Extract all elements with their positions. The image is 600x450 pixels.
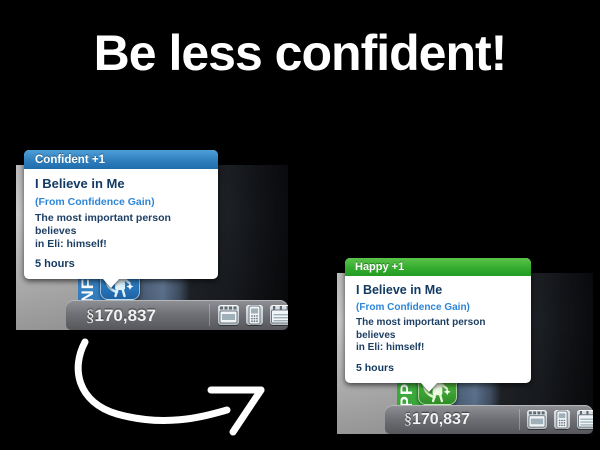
phone-icon[interactable] <box>554 410 570 429</box>
hand-drawn-curved-arrow <box>55 320 295 440</box>
tooltip-body-after: I Believe in Me (From Confidence Gain) T… <box>345 276 531 383</box>
money-display-before: §170,837 <box>86 306 156 326</box>
oven-glyph <box>527 410 547 429</box>
tooltip-header-label: Happy +1 <box>355 261 404 273</box>
tooltip-description-line-1: The most important person believes <box>356 317 520 342</box>
calendar-icon[interactable] <box>577 410 593 429</box>
phone-glyph <box>554 410 570 429</box>
calendar-icon[interactable] <box>270 305 288 325</box>
tooltip-header-before: Confident +1 <box>24 150 218 169</box>
tooltip-duration: 5 hours <box>356 362 520 374</box>
tooltip-body-before: I Believe in Me (From Confidence Gain) T… <box>24 169 218 279</box>
phone-glyph <box>246 305 263 325</box>
tooltip-duration: 5 hours <box>35 258 207 270</box>
tooltip-title: I Believe in Me <box>356 283 520 297</box>
simoleon-symbol: § <box>404 411 412 428</box>
oven-icon[interactable] <box>218 305 239 325</box>
tooltip-source: (From Confidence Gain) <box>35 196 207 208</box>
tooltip-title: I Believe in Me <box>35 176 207 191</box>
meme-title: Be less confident! <box>0 24 600 82</box>
money-display-after: §170,837 <box>404 411 470 429</box>
mood-tooltip-after: Happy +1 I Believe in Me (From Confidenc… <box>345 258 531 383</box>
status-bar-divider <box>519 409 520 430</box>
tooltip-source: (From Confidence Gain) <box>356 302 520 313</box>
simoleon-symbol: § <box>86 306 95 325</box>
money-amount: 170,837 <box>412 411 470 428</box>
tooltip-header-after: Happy +1 <box>345 258 531 276</box>
oven-glyph <box>218 305 239 325</box>
mood-tooltip-before: Confident +1 I Believe in Me (From Confi… <box>24 150 218 279</box>
oven-icon[interactable] <box>527 410 547 429</box>
tooltip-description-line-2: in Eli: himself! <box>356 342 520 355</box>
calendar-glyph <box>270 305 288 325</box>
status-bar-after: §170,837 <box>385 405 593 434</box>
tooltip-pointer-before <box>103 279 119 288</box>
tooltip-pointer-after <box>421 383 437 392</box>
status-bar-before: §170,837 <box>66 300 288 330</box>
tooltip-description-line-2: in Eli: himself! <box>35 238 207 251</box>
tooltip-description-line-1: The most important person believes <box>35 212 207 238</box>
tooltip-header-label: Confident +1 <box>35 154 105 166</box>
calendar-glyph <box>577 410 593 429</box>
meme-image: Be less confident! CONFIDENT <box>0 0 600 450</box>
status-bar-divider <box>209 304 210 326</box>
money-amount: 170,837 <box>95 306 156 325</box>
phone-icon[interactable] <box>246 305 263 325</box>
